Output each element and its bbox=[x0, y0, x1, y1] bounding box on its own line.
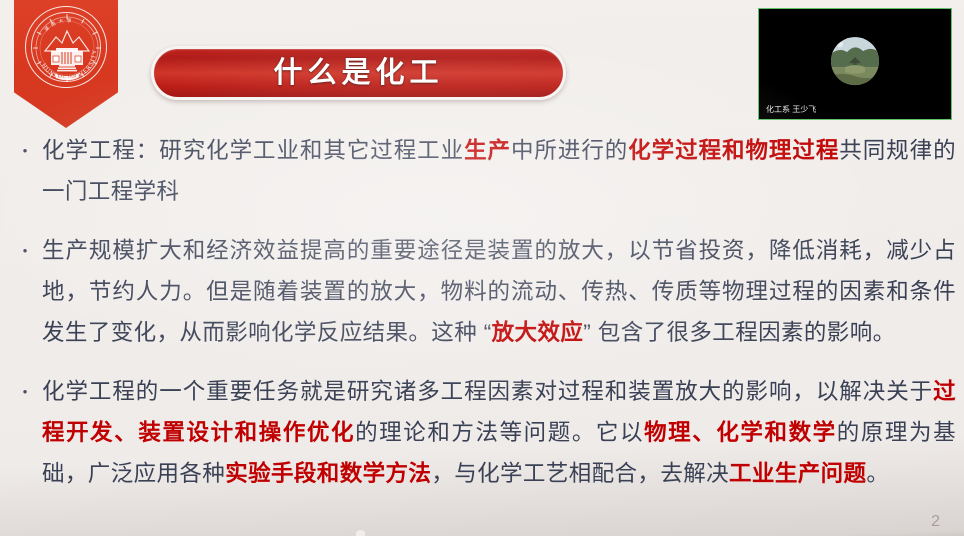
text-segment: 。 bbox=[866, 461, 889, 486]
bullet-marker: • bbox=[8, 371, 42, 398]
text-segment: 化学工程：研究化学工业和其它过程工业 bbox=[42, 138, 464, 163]
svg-text:湖 南 大 學: 湖 南 大 學 bbox=[43, 17, 73, 33]
bullet-item: • 生产规模扩大和经济效益提高的重要途径是装置的放大，以节省投资，降低消耗，减少… bbox=[8, 230, 956, 353]
slide-body: • 化学工程：研究化学工业和其它过程工业生产中所进行的化学过程和物理过程共同规律… bbox=[8, 130, 956, 494]
highlighted-text-segment: 工业生产问题 bbox=[729, 461, 866, 486]
text-segment: ” 包含了很多工程因素的影响。 bbox=[583, 320, 895, 345]
cursor-dot bbox=[356, 530, 365, 536]
bullet-text: 化学工程：研究化学工业和其它过程工业生产中所进行的化学过程和物理过程共同规律的一… bbox=[42, 130, 956, 212]
text-segment: 中所进行的 bbox=[511, 138, 628, 163]
text-segment: ，与化学工艺相配合，去解决 bbox=[431, 461, 729, 486]
bullet-item: • 化学工程：研究化学工业和其它过程工业生产中所进行的化学过程和物理过程共同规律… bbox=[8, 130, 956, 212]
highlighted-text-segment: 化学过程和物理过程 bbox=[628, 138, 839, 163]
bullet-text: 化学工程的一个重要任务就是研究诸多工程因素对过程和装置放大的影响，以解决关于过程… bbox=[42, 371, 956, 494]
video-participant-panel[interactable]: 化工系 王少飞 bbox=[758, 8, 952, 120]
bullet-text: 生产规模扩大和经济效益提高的重要途径是装置的放大，以节省投资，降低消耗，减少占地… bbox=[42, 230, 956, 353]
page-title: 什么是化工 bbox=[273, 59, 443, 88]
page-number: 2 bbox=[931, 514, 940, 530]
text-segment: 的理论和方法等问题。它以 bbox=[355, 420, 644, 445]
seal-chinese-text: 湖 南 大 學 bbox=[43, 17, 73, 33]
university-ribbon-banner: HUNAN UNIVERSITY 湖 南 大 學 EST. 1926 bbox=[14, 0, 118, 128]
highlighted-text-segment: 生产 bbox=[464, 138, 511, 163]
presentation-slide: HUNAN UNIVERSITY 湖 南 大 學 EST. 1926 什么是化工 bbox=[0, 0, 964, 536]
bullet-marker: • bbox=[8, 130, 42, 157]
seal-established-text: EST. 1926 bbox=[58, 75, 77, 79]
bullet-marker: • bbox=[8, 230, 42, 257]
text-segment: 化学工程的一个重要任务就是研究诸多工程因素对过程和装置放大的影响，以解决关于 bbox=[42, 379, 933, 404]
hunan-university-seal-icon: HUNAN UNIVERSITY 湖 南 大 學 EST. 1926 bbox=[25, 6, 107, 88]
bullet-item: • 化学工程的一个重要任务就是研究诸多工程因素对过程和装置放大的影响，以解决关于… bbox=[8, 371, 956, 494]
highlighted-text-segment: 实验手段和数学方法 bbox=[225, 461, 431, 486]
pavilion-garden-photo-avatar bbox=[831, 37, 879, 85]
highlighted-text-segment: 物理、化学和数学 bbox=[644, 420, 837, 445]
slide-title-pill: 什么是化工 bbox=[151, 46, 566, 100]
highlighted-text-segment: 放大效应 bbox=[492, 320, 584, 345]
participant-name-label: 化工系 王少飞 bbox=[766, 105, 816, 115]
